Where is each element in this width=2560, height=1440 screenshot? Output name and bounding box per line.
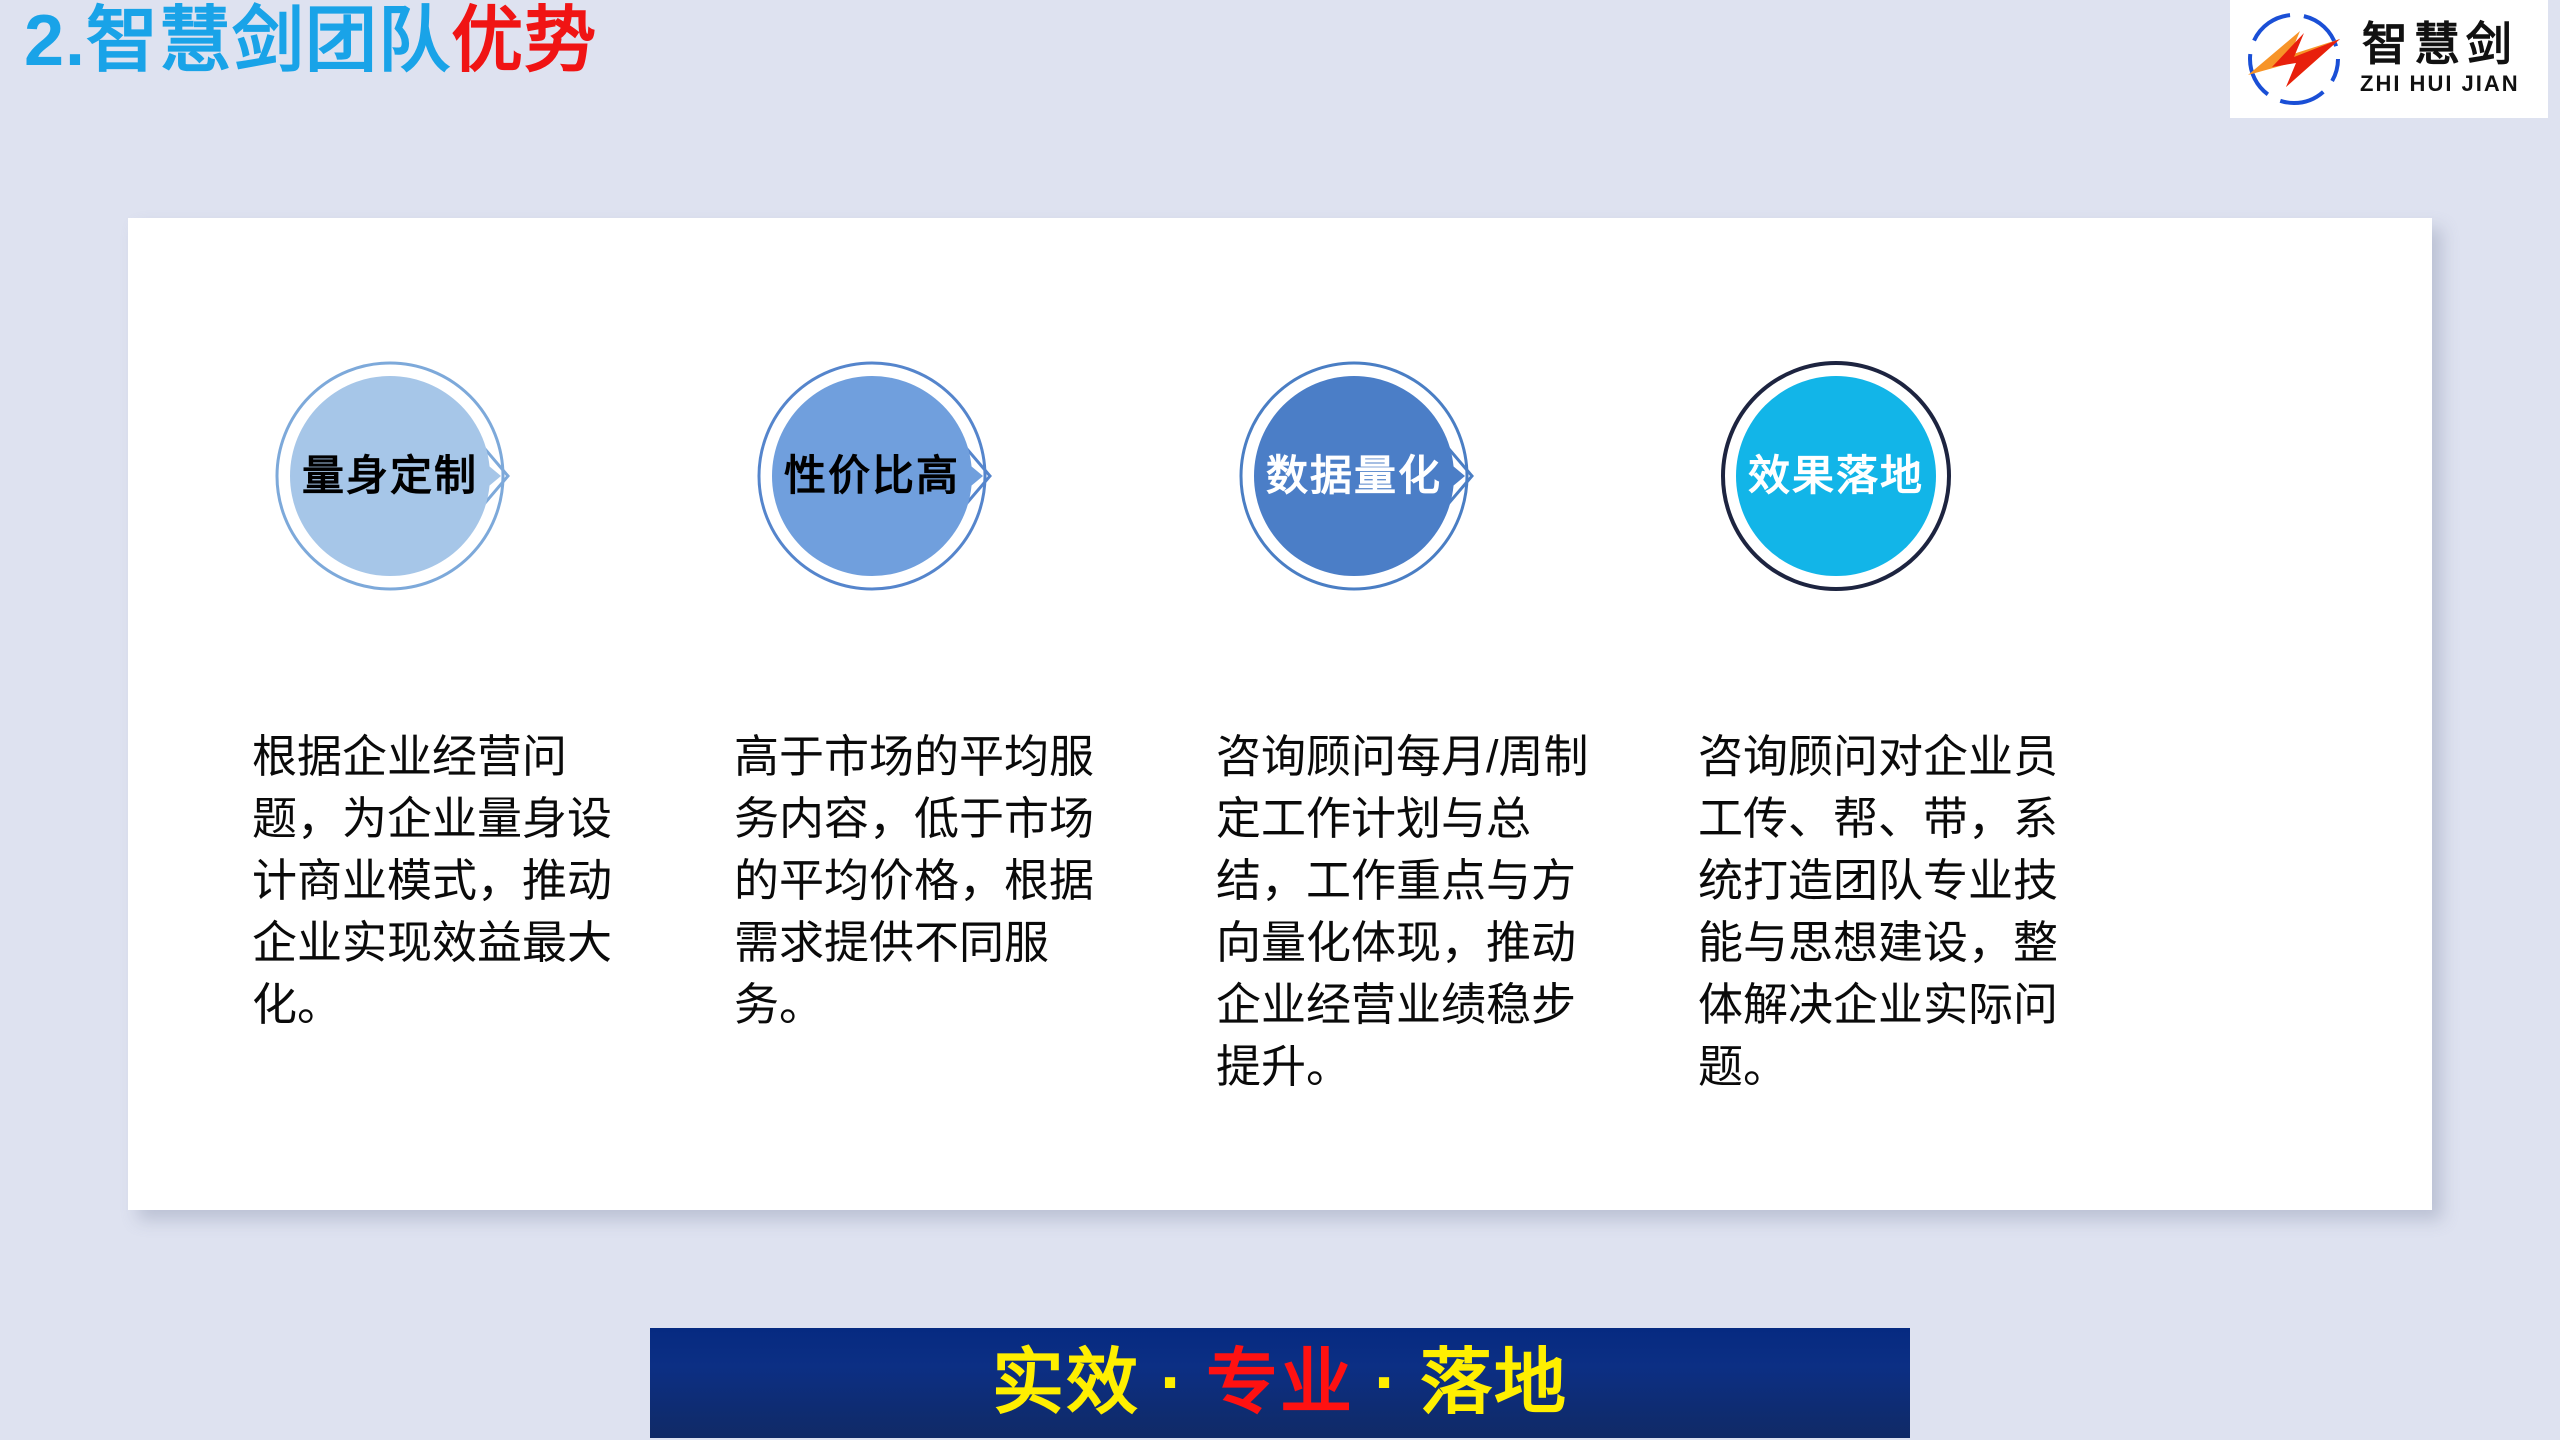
slogan-separator-2: · (1360, 1347, 1414, 1419)
slogan-word-1: 实效 (992, 1347, 1140, 1419)
description-3: 咨询顾问每月/周制定工作计划与总结，工作重点与方向量化体现，推动企业经营业绩稳步… (1216, 726, 1596, 1099)
slogan-word-3: 落地 (1420, 1347, 1568, 1419)
flow-node-2[interactable]: 性价比高 (744, 348, 1000, 604)
page-title-accent: 优势 (451, 2, 597, 81)
logo-text-block: 智慧剑 ZHI HUI JIAN (2360, 21, 2520, 97)
flow-node-3[interactable]: 数据量化 (1226, 348, 1482, 604)
slide-root: 2.智慧剑团队优势 智慧剑 ZHI HUI JIAN 量身定制 (0, 0, 2560, 1440)
flow-node-1[interactable]: 量身定制 (262, 348, 518, 604)
slogan-separator-1: · (1146, 1347, 1200, 1419)
logo-name-cn: 智慧剑 (2362, 21, 2518, 69)
slogan-banner: 实效 · 专业 · 落地 (650, 1328, 1910, 1438)
company-logo: 智慧剑 ZHI HUI JIAN (2230, 0, 2548, 118)
description-4: 咨询顾问对企业员工传、帮、带，系统打造团队专业技能与思想建设，整体解决企业实际问… (1698, 726, 2078, 1099)
description-2: 高于市场的平均服务内容，低于市场的平均价格，根据需求提供不同服务。 (734, 726, 1114, 1036)
flow-node-4[interactable]: 效果落地 (1708, 348, 1964, 604)
page-title-main: 2.智慧剑团队 (24, 2, 451, 81)
description-row: 根据企业经营问题，为企业量身设计商业模式，推动企业实现效益最大化。 高于市场的平… (128, 726, 2432, 1166)
page-title: 2.智慧剑团队优势 (24, 2, 597, 81)
logo-name-en: ZHI HUI JIAN (2360, 71, 2520, 97)
process-flow: 量身定制 性价比高 数据量化 (128, 348, 2432, 604)
slogan-word-2: 专业 (1206, 1347, 1354, 1419)
description-1: 根据企业经营问题，为企业量身设计商业模式，推动企业实现效益最大化。 (252, 726, 632, 1036)
lightning-circle-icon (2242, 7, 2346, 111)
